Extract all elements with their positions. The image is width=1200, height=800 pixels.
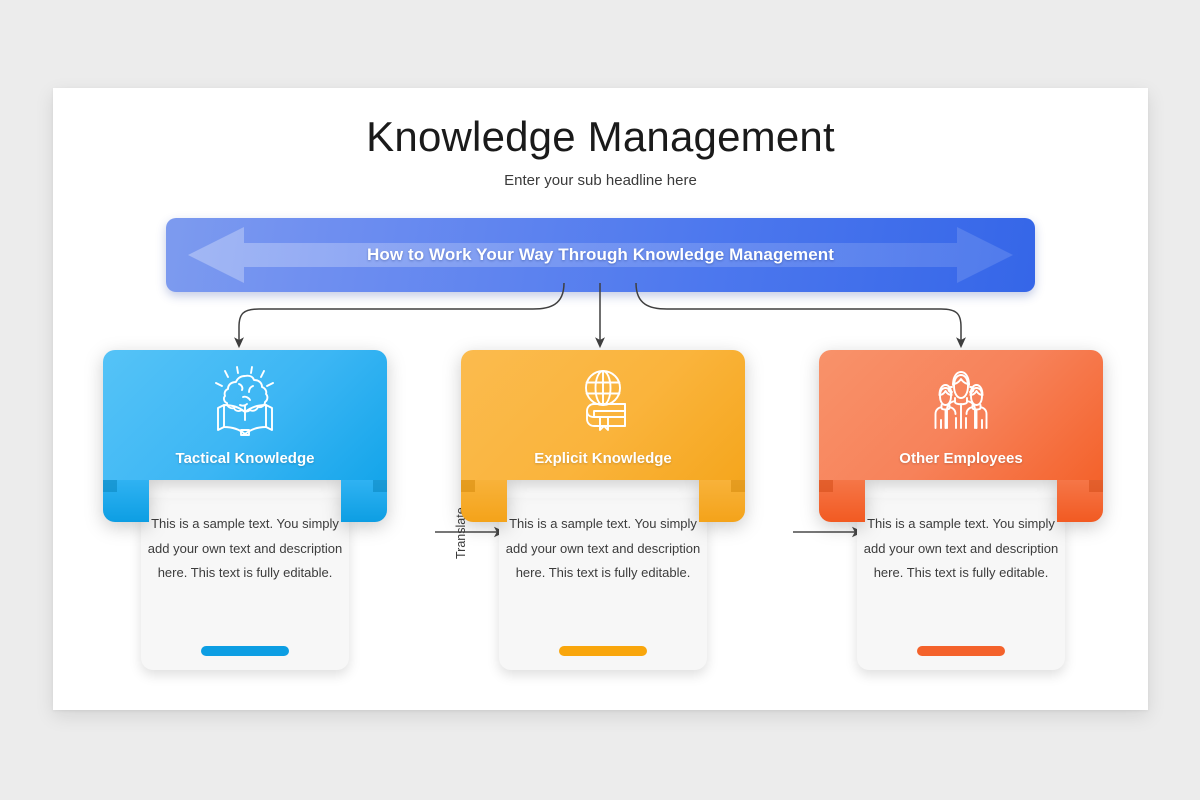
arrow-card2-to-card3: [792, 525, 866, 539]
ribbon-notch-left: [461, 480, 475, 492]
process-banner[interactable]: How to Work Your Way Through Knowledge M…: [166, 218, 1035, 292]
body-card: This is a sample text. You simply add yo…: [499, 498, 707, 670]
card-title: Other Employees: [819, 450, 1103, 467]
ribbon-notch-right: [373, 480, 387, 492]
three-people-icon: [819, 364, 1103, 447]
card-column-other-employees: This is a sample text. You simply add yo…: [819, 350, 1103, 670]
card-title: Explicit Knowledge: [461, 450, 745, 467]
slide-canvas: Knowledge Management Enter your sub head…: [53, 88, 1148, 710]
accent-pill: [201, 646, 289, 656]
globe-on-book-icon: [461, 364, 745, 447]
body-card: This is a sample text. You simply add yo…: [857, 498, 1065, 670]
card-column-explicit-knowledge: This is a sample text. You simply add yo…: [461, 350, 745, 670]
body-card: This is a sample text. You simply add yo…: [141, 498, 349, 670]
body-text: This is a sample text. You simply add yo…: [141, 512, 349, 586]
card-column-tactical-knowledge: This is a sample text. You simply add yo…: [103, 350, 387, 670]
body-text: This is a sample text. You simply add yo…: [499, 512, 707, 586]
ribbon-notch-right: [731, 480, 745, 492]
card-title: Tactical Knowledge: [103, 450, 387, 467]
sub-headline: Enter your sub headline here: [53, 172, 1148, 189]
ribbon-notch-right: [1089, 480, 1103, 492]
arrow-card1-to-card2: [434, 525, 508, 539]
accent-pill: [559, 646, 647, 656]
accent-pill: [917, 646, 1005, 656]
ribbon-notch-left: [103, 480, 117, 492]
body-text: This is a sample text. You simply add yo…: [857, 512, 1065, 586]
ribbon-notch-left: [819, 480, 833, 492]
brain-on-open-book-icon: [103, 364, 387, 447]
page-title: Knowledge Management: [53, 113, 1148, 161]
banner-label: How to Work Your Way Through Knowledge M…: [166, 218, 1035, 292]
